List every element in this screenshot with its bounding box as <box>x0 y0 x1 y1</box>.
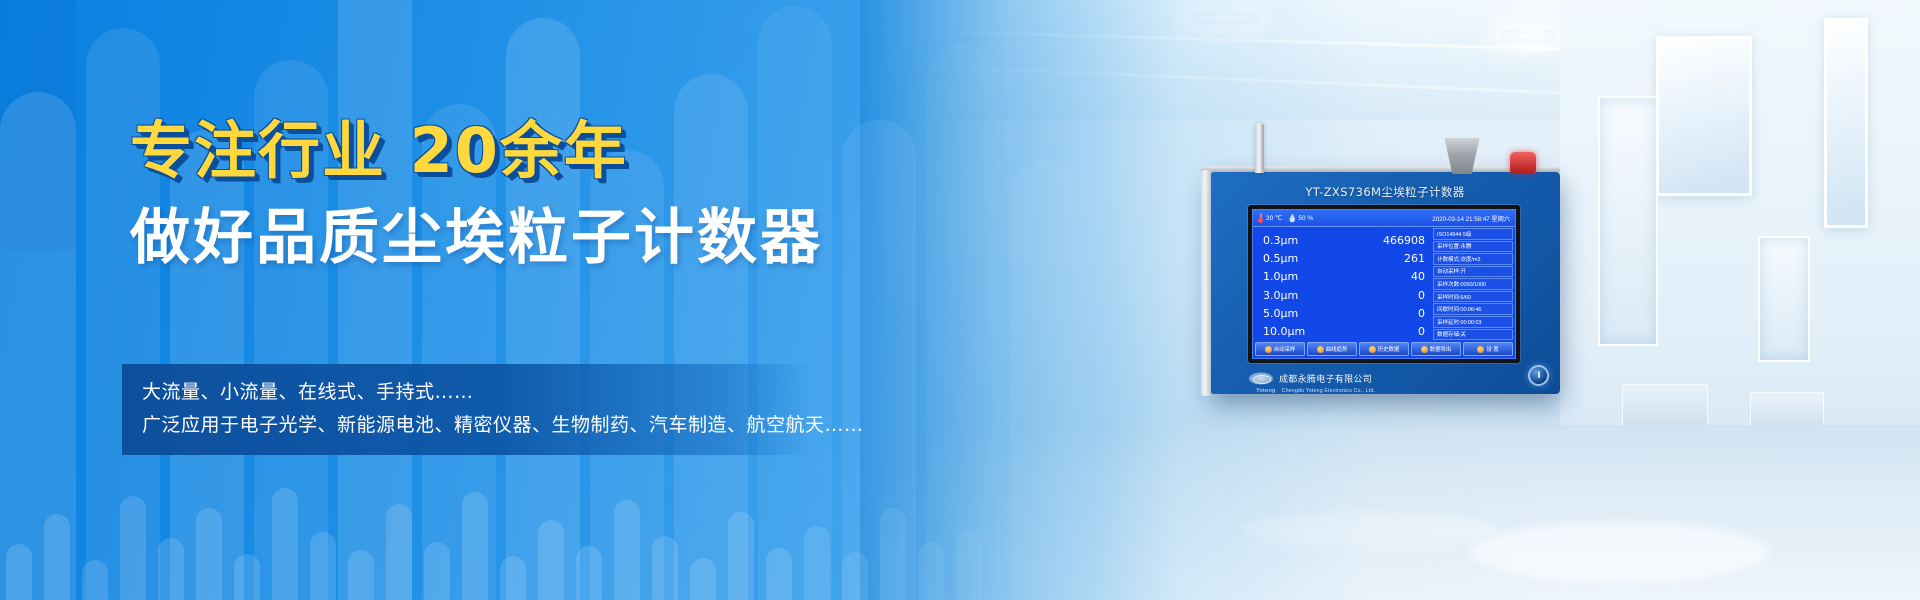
info-row: 采样位置:永腾 <box>1433 241 1513 253</box>
trend-curve-button[interactable]: 曲线趋势 <box>1307 342 1357 356</box>
info-row: 间歇时间:00:06:46 <box>1433 303 1513 315</box>
channel-row: 5.0μm 0 <box>1253 304 1433 322</box>
channel-row: 1.0μm 40 <box>1253 268 1433 286</box>
lcd-body: 0.3μm 466908 0.5μm 261 1.0μm 40 3.0μm <box>1253 227 1515 341</box>
info-row: 计数模式:浓度/m3 <box>1433 253 1513 265</box>
humidity-indicator: 50 % <box>1289 214 1313 223</box>
brand-mark: Yoteng <box>1256 388 1276 394</box>
export-data-button[interactable]: 数据导出 <box>1411 342 1461 356</box>
history-data-icon <box>1369 346 1376 353</box>
channel-count: 40 <box>1411 270 1425 283</box>
settings-button[interactable]: 设 置 <box>1463 342 1513 356</box>
subtitle-line-2: 广泛应用于电子光学、新能源电池、精密仪器、生物制药、汽车制造、航空航天…… <box>142 409 794 442</box>
brand-company-cn: 成都永腾电子有限公司 <box>1279 372 1372 385</box>
info-row: 采样次数:0050/1000 <box>1433 278 1513 290</box>
gear-icon <box>1477 346 1484 353</box>
channel-count: 0 <box>1418 289 1425 302</box>
lcd-bezel: 20 ℃ 50 % 2020-03-14 21:58:47 星期六 0.3μm … <box>1248 205 1520 363</box>
device-left-edge <box>1201 170 1211 396</box>
auto-sample-icon <box>1265 346 1272 353</box>
export-data-label: 数据导出 <box>1430 345 1452 353</box>
info-row: 自动采样:开 <box>1433 266 1513 278</box>
channel-count: 261 <box>1404 252 1425 265</box>
subtitle-box: 大流量、小流量、在线式、手持式…… 广泛应用于电子光学、新能源电池、精密仪器、生… <box>122 364 812 455</box>
brand-company-en: Chengdu Yoteng Electronics Co., Ltd. <box>1282 388 1375 394</box>
channel-row: 3.0μm 0 <box>1253 286 1433 304</box>
channel-size: 5.0μm <box>1263 307 1298 320</box>
measurement-info-panel: ISO14644 5级 采样位置:永腾 计数模式:浓度/m3 自动采样:开 采样… <box>1433 227 1515 341</box>
headline-main: 做好品质尘埃粒子计数器 <box>130 206 823 271</box>
export-data-icon <box>1421 346 1428 353</box>
particle-channel-list: 0.3μm 466908 0.5μm 261 1.0μm 40 3.0μm <box>1253 227 1433 341</box>
water-drop-icon <box>1289 214 1295 223</box>
device-brand-bar: 成都永腾电子有限公司 <box>1248 368 1520 388</box>
datetime-value: 2020-03-14 21:58:47 星期六 <box>1432 214 1510 223</box>
yoteng-logo-icon <box>1248 372 1274 385</box>
channel-count: 0 <box>1418 325 1425 338</box>
channel-size: 1.0μm <box>1263 270 1298 283</box>
auto-sample-button[interactable]: 自动采样 <box>1255 342 1305 356</box>
info-row: 采样时间:6/60 <box>1433 291 1513 303</box>
history-data-label: 历史数据 <box>1378 345 1400 353</box>
humidity-value: 50 % <box>1298 215 1313 222</box>
channel-size: 3.0μm <box>1263 289 1298 302</box>
lcd-status-bar: 20 ℃ 50 % 2020-03-14 21:58:47 星期六 <box>1253 210 1515 227</box>
channel-count: 0 <box>1418 307 1425 320</box>
headline-top: 专注行业 20余年 <box>130 118 823 184</box>
channel-row: 0.3μm 466908 <box>1253 231 1433 249</box>
hero-banner: 专注行业 20余年 做好品质尘埃粒子计数器 大流量、小流量、在线式、手持式…… … <box>0 0 1920 600</box>
trend-curve-icon <box>1317 346 1324 353</box>
thermometer-icon <box>1258 213 1263 223</box>
channel-size: 0.5μm <box>1263 252 1298 265</box>
lcd-screen: 20 ℃ 50 % 2020-03-14 21:58:47 星期六 0.3μm … <box>1252 209 1516 359</box>
trend-curve-label: 曲线趋势 <box>1326 345 1348 353</box>
power-button[interactable] <box>1528 365 1549 386</box>
bottom-bar-strip <box>0 470 1000 600</box>
channel-size: 0.3μm <box>1263 234 1298 247</box>
particle-counter-device: YT-ZXS736M尘埃粒子计数器 20 ℃ 50 % 2020-03-14 2… <box>1210 172 1560 394</box>
temperature-indicator: 20 ℃ <box>1258 213 1282 223</box>
channel-count: 466908 <box>1383 234 1425 247</box>
info-row: 数据存储:关 <box>1433 329 1513 341</box>
temperature-value: 20 ℃ <box>1266 214 1282 222</box>
headline-group: 专注行业 20余年 做好品质尘埃粒子计数器 <box>130 118 823 271</box>
antenna-probe-icon <box>1255 123 1264 173</box>
history-data-button[interactable]: 历史数据 <box>1359 342 1409 356</box>
alarm-indicator-icon <box>1510 152 1536 173</box>
subtitle-line-1: 大流量、小流量、在线式、手持式…… <box>142 376 794 409</box>
channel-row: 0.5μm 261 <box>1253 249 1433 267</box>
info-row: 采样延时:00:00:03 <box>1433 316 1513 328</box>
device-brand-subline: Yoteng Chengdu Yoteng Electronics Co., L… <box>1256 388 1528 394</box>
device-model-title: YT-ZXS736M尘埃粒子计数器 <box>1210 184 1560 200</box>
channel-size: 10.0μm <box>1263 325 1305 338</box>
channel-row: 10.0μm 0 <box>1253 323 1433 341</box>
settings-label: 设 置 <box>1486 345 1498 353</box>
info-row: ISO14644 5级 <box>1433 228 1513 240</box>
auto-sample-label: 自动采样 <box>1274 345 1296 353</box>
lcd-button-bar: 自动采样 曲线趋势 历史数据 数据导出 <box>1253 341 1515 358</box>
